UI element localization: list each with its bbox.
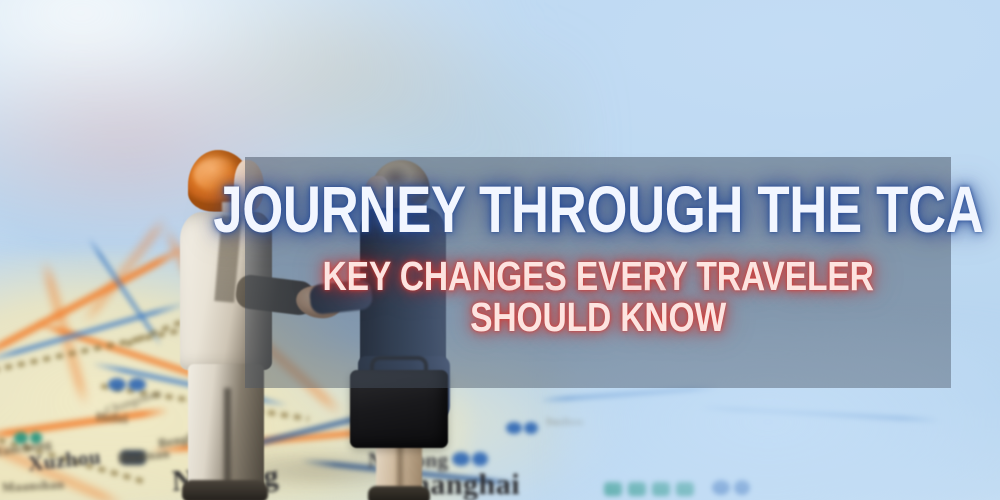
figurine-right-shoes — [368, 486, 430, 500]
banner-subtitle-line-2: SHOULD KNOW — [322, 297, 873, 339]
banner-subtitle-line-1: KEY CHANGES EVERY TRAVELER — [322, 256, 873, 298]
map-marker-icon — [524, 422, 538, 434]
map-marker-icon — [506, 422, 522, 434]
banner-subtitle: KEY CHANGES EVERY TRAVELER SHOULD KNOW — [322, 256, 873, 340]
figurine-left-shoes — [182, 480, 268, 500]
map-marker-icon — [108, 378, 126, 391]
promotional-banner: Xuzhou Nanjing Shanghai Nantong Bengbu H… — [0, 0, 1000, 500]
map-label-maanshan: Maanshan — [2, 476, 65, 495]
map-marker-icon — [128, 378, 146, 391]
headline-block: JOURNEY THROUGH THE TCA KEY CHANGES EVER… — [245, 157, 951, 388]
figurine-left-leg-gap — [224, 388, 231, 484]
banner-title: JOURNEY THROUGH THE TCA — [213, 177, 983, 242]
